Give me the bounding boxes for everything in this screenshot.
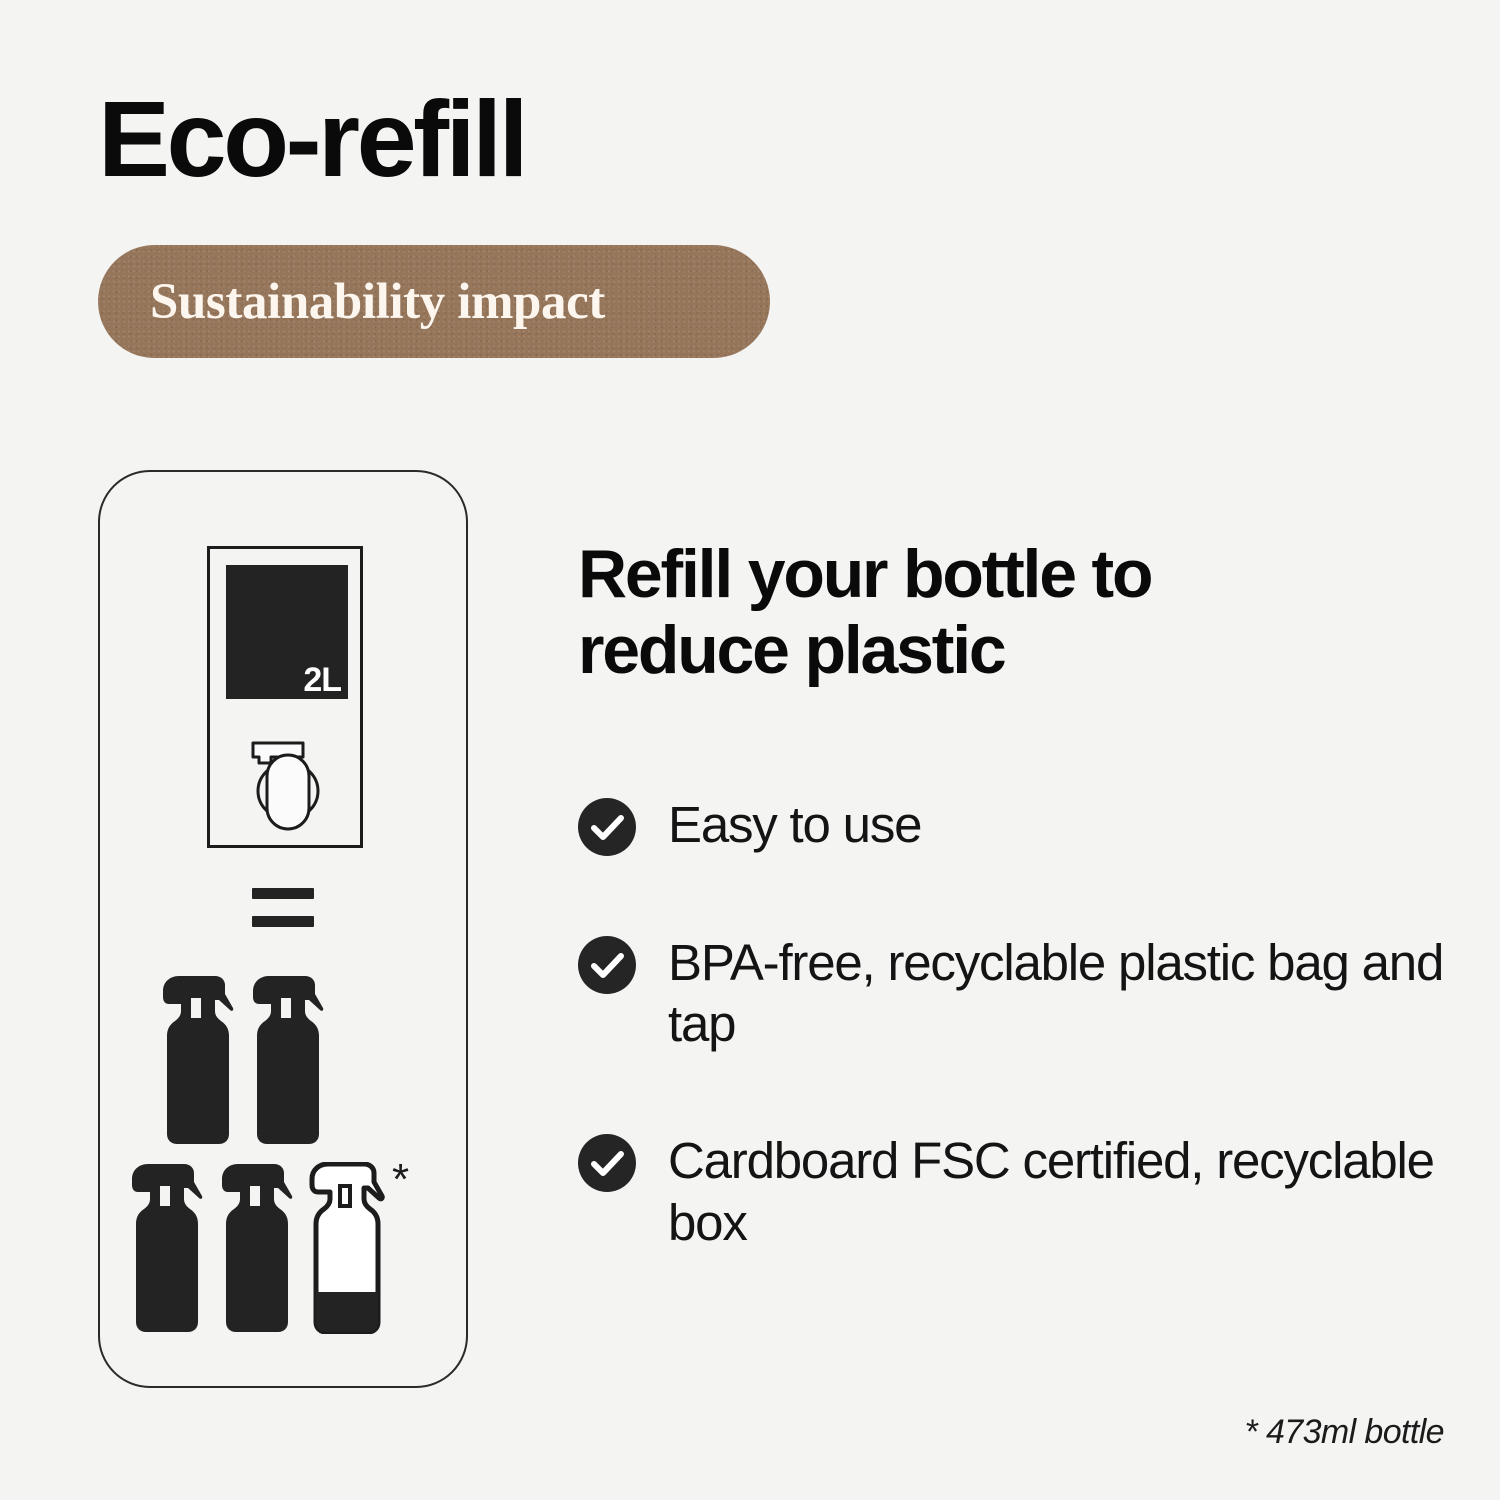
list-item: BPA-free, recyclable plastic bag and tap — [578, 932, 1458, 1054]
refill-box-icon: 2L — [207, 546, 363, 848]
bottle-row-top — [159, 974, 327, 1146]
status-badge-label: Sustainability impact — [150, 273, 605, 331]
spray-bottle-filled-icon — [218, 1162, 296, 1334]
spray-bottle-filled-icon — [128, 1162, 206, 1334]
box-volume-label: 2L — [303, 663, 341, 697]
content-column: Refill your bottle to reduce plastic Eas… — [578, 536, 1458, 688]
bottle-row-bottom — [128, 1162, 386, 1334]
spray-bottle-filled-icon — [249, 974, 327, 1146]
footnote: * 473ml bottle — [1244, 1413, 1444, 1452]
refill-box-fill: 2L — [226, 565, 348, 699]
benefits-list: Easy to use BPA-free, recyclable plastic… — [578, 794, 1458, 1253]
equals-sign-icon — [252, 888, 314, 927]
list-item-label: Cardboard FSC certified, recyclable box — [668, 1130, 1458, 1252]
check-circle-icon — [578, 936, 636, 994]
list-item-label: BPA-free, recyclable plastic bag and tap — [668, 932, 1458, 1054]
check-circle-icon — [578, 798, 636, 856]
list-item: Cardboard FSC certified, recyclable box — [578, 1130, 1458, 1252]
list-item-label: Easy to use — [668, 794, 921, 855]
page-title: Eco-refill — [98, 82, 525, 195]
product-illustration-card: 2L — [98, 470, 468, 1388]
status-badge: Sustainability impact — [98, 245, 770, 358]
tap-icon — [241, 733, 335, 833]
footnote-asterisk-marker: * — [392, 1158, 409, 1202]
spray-bottle-filled-icon — [159, 974, 237, 1146]
spray-bottle-partial-icon — [308, 1162, 386, 1334]
equals-bar-bottom — [252, 916, 314, 927]
list-item: Easy to use — [578, 794, 1458, 856]
check-circle-icon — [578, 1134, 636, 1192]
headline: Refill your bottle to reduce plastic — [578, 536, 1318, 688]
equals-bar-top — [252, 888, 314, 899]
